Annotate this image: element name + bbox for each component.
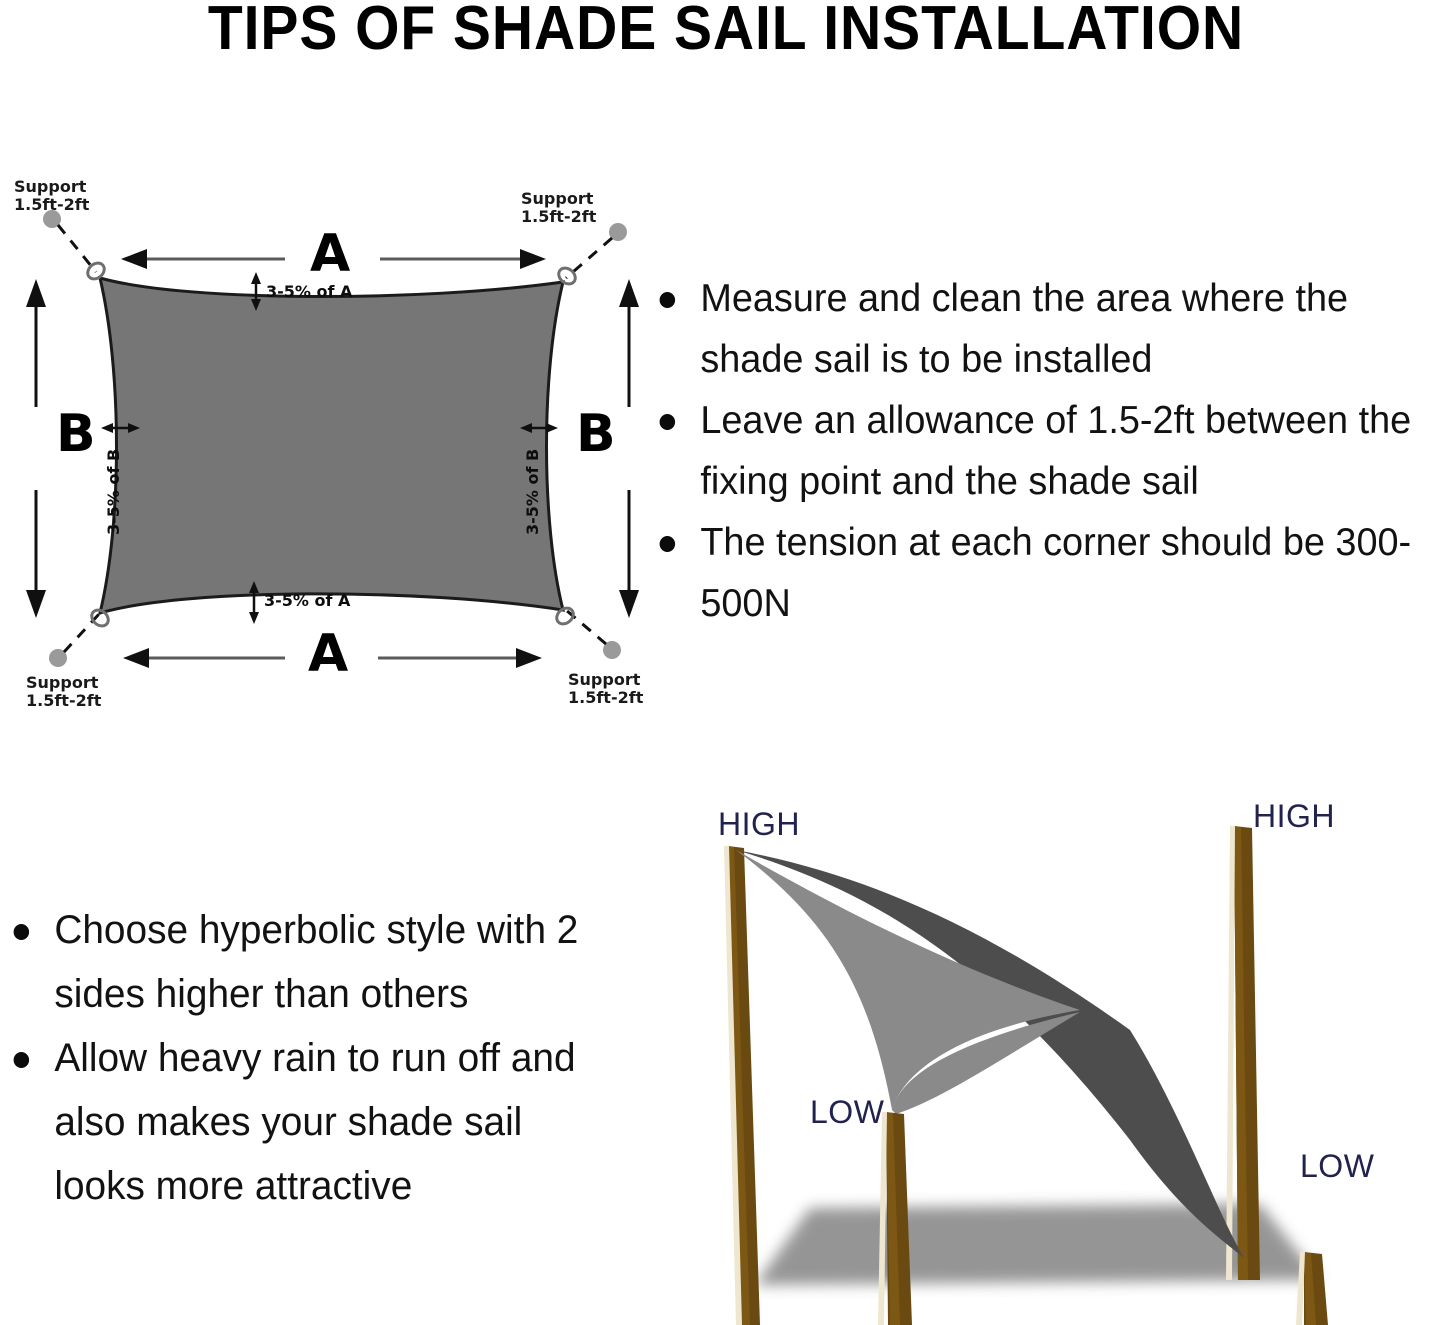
dimension-letter-b-left: B bbox=[56, 408, 96, 460]
support-label-line2: 1.5ft-2ft bbox=[26, 691, 101, 710]
support-label-top-right: Support 1.5ft-2ft bbox=[521, 190, 596, 227]
dimension-letter-a-bottom: A bbox=[308, 628, 348, 680]
post-low-left bbox=[878, 1112, 912, 1325]
support-label-line1: Support bbox=[14, 177, 86, 196]
support-line-bottom-left bbox=[64, 613, 100, 652]
list-item: Allow heavy rain to run off and also mak… bbox=[0, 1026, 601, 1218]
support-label-line1: Support bbox=[26, 673, 98, 692]
post-high-left bbox=[724, 846, 760, 1325]
sail-illustration-graphic bbox=[660, 780, 1452, 1325]
list-item: Measure and clean the area where the sha… bbox=[646, 268, 1432, 390]
sail-illustration: HIGH HIGH LOW LOW bbox=[660, 780, 1452, 1325]
support-label-top-left: Support 1.5ft-2ft bbox=[14, 178, 89, 215]
post-high-right bbox=[1226, 826, 1260, 1280]
support-label-line2: 1.5ft-2ft bbox=[568, 688, 643, 707]
support-label-line2: 1.5ft-2ft bbox=[14, 195, 89, 214]
support-label-line2: 1.5ft-2ft bbox=[521, 207, 596, 226]
label-high-right: HIGH bbox=[1253, 798, 1335, 835]
support-label-line1: Support bbox=[568, 670, 640, 689]
list-item: The tension at each corner should be 300… bbox=[646, 512, 1432, 634]
curvature-label-right: 3-5% of B bbox=[523, 449, 542, 535]
label-low-left: LOW bbox=[810, 1094, 884, 1131]
tips-list-left: Choose hyperbolic style with 2 sides hig… bbox=[0, 898, 620, 1218]
support-label-bottom-left: Support 1.5ft-2ft bbox=[26, 674, 101, 711]
label-low-right: LOW bbox=[1300, 1148, 1374, 1185]
list-item: Choose hyperbolic style with 2 sides hig… bbox=[0, 898, 601, 1026]
curvature-label-left: 3-5% of B bbox=[104, 449, 123, 535]
support-label-line1: Support bbox=[521, 189, 593, 208]
post-low-right bbox=[1296, 1252, 1328, 1325]
dimension-arrow-b-left bbox=[26, 279, 46, 618]
dimension-letter-b-right: B bbox=[576, 408, 616, 460]
shade-sail-body bbox=[100, 278, 563, 613]
curvature-label-bottom: 3-5% of A bbox=[264, 591, 350, 610]
tips-list-right: Measure and clean the area where the sha… bbox=[646, 268, 1452, 634]
curvature-label-top: 3-5% of A bbox=[266, 282, 352, 301]
dimension-diagram: Support 1.5ft-2ft Support 1.5ft-2ft Supp… bbox=[0, 160, 660, 730]
dimension-arrow-b-right bbox=[619, 279, 639, 618]
page-title: TIPS OF SHADE SAIL INSTALLATION bbox=[58, 0, 1394, 61]
dimension-letter-a-top: A bbox=[310, 228, 350, 280]
list-item: Leave an allowance of 1.5-2ft between th… bbox=[646, 390, 1432, 512]
support-label-bottom-right: Support 1.5ft-2ft bbox=[568, 671, 643, 708]
label-high-left: HIGH bbox=[718, 806, 800, 843]
